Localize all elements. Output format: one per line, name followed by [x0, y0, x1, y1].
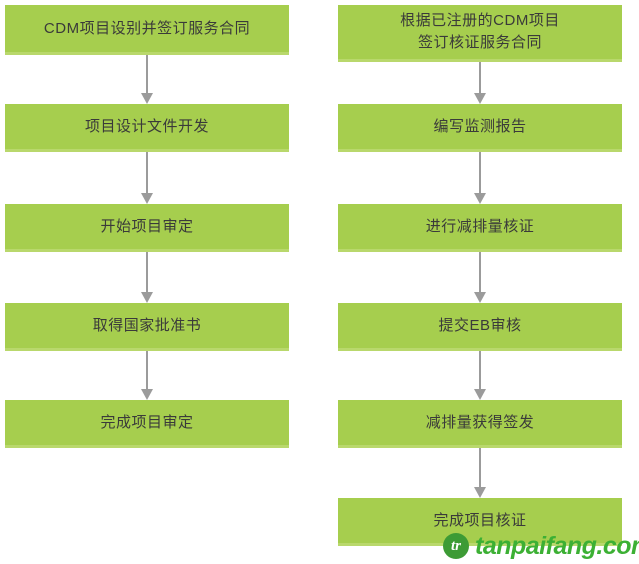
flow-node-l1[interactable]: CDM项目设别并签订服务合同	[5, 5, 289, 55]
arrow-shaft-icon	[146, 351, 148, 389]
watermark: tr tanpaifang.com	[443, 531, 639, 561]
watermark-text: tanpaifang.com	[475, 534, 639, 559]
flow-node-l5[interactable]: 完成项目审定	[5, 400, 289, 448]
arrow-head-icon	[141, 292, 153, 303]
arrow-head-icon	[474, 93, 486, 104]
arrow-shaft-icon	[479, 252, 481, 292]
flow-arrow-r4-r5	[474, 351, 486, 400]
flow-arrow-l3-l4	[141, 252, 153, 303]
flowchart-canvas: CDM项目设别并签订服务合同 项目设计文件开发 开始项目审定 取得国家批准书	[0, 0, 639, 564]
arrow-shaft-icon	[479, 448, 481, 487]
arrow-head-icon	[474, 487, 486, 498]
arrow-head-icon	[141, 193, 153, 204]
flow-node-r1-label: 根据已注册的CDM项目 签订核证服务合同	[400, 10, 560, 54]
flow-node-r1[interactable]: 根据已注册的CDM项目 签订核证服务合同	[338, 5, 622, 62]
arrow-head-icon	[474, 193, 486, 204]
flow-node-l4[interactable]: 取得国家批准书	[5, 303, 289, 351]
arrow-shaft-icon	[146, 152, 148, 193]
flow-node-r4[interactable]: 提交EB审核	[338, 303, 622, 351]
flow-node-l4-label: 取得国家批准书	[93, 315, 202, 337]
flow-node-l1-label: CDM项目设别并签订服务合同	[44, 18, 250, 40]
site-logo-icon: tr	[443, 533, 469, 559]
flow-arrow-l1-l2	[141, 55, 153, 104]
flow-column-right: 根据已注册的CDM项目 签订核证服务合同 编写监测报告 进行减排量核证 提交EB…	[338, 0, 622, 564]
flow-node-l3[interactable]: 开始项目审定	[5, 204, 289, 252]
flow-arrow-l4-l5	[141, 351, 153, 400]
flow-node-l2-label: 项目设计文件开发	[85, 116, 209, 138]
flow-node-r3[interactable]: 进行减排量核证	[338, 204, 622, 252]
flow-node-r3-label: 进行减排量核证	[426, 216, 535, 238]
arrow-shaft-icon	[479, 351, 481, 389]
flow-node-r2[interactable]: 编写监测报告	[338, 104, 622, 152]
flow-node-l2[interactable]: 项目设计文件开发	[5, 104, 289, 152]
flow-node-r5-label: 减排量获得签发	[426, 412, 535, 434]
arrow-head-icon	[141, 389, 153, 400]
arrow-shaft-icon	[479, 62, 481, 93]
flow-node-r5[interactable]: 减排量获得签发	[338, 400, 622, 448]
flow-node-l3-label: 开始项目审定	[100, 216, 193, 238]
flow-arrow-r1-r2	[474, 62, 486, 104]
arrow-head-icon	[474, 389, 486, 400]
flow-node-r6-label: 完成项目核证	[433, 510, 526, 532]
arrow-shaft-icon	[146, 55, 148, 93]
flow-arrow-l2-l3	[141, 152, 153, 204]
arrow-shaft-icon	[479, 152, 481, 193]
flow-arrow-r5-r6	[474, 448, 486, 498]
flow-column-left: CDM项目设别并签订服务合同 项目设计文件开发 开始项目审定 取得国家批准书	[5, 0, 289, 564]
flow-node-l5-label: 完成项目审定	[100, 412, 193, 434]
flow-node-r2-label: 编写监测报告	[433, 116, 526, 138]
arrow-shaft-icon	[146, 252, 148, 292]
flow-node-r4-label: 提交EB审核	[438, 315, 521, 337]
flow-arrow-r3-r4	[474, 252, 486, 303]
arrow-head-icon	[141, 93, 153, 104]
arrow-head-icon	[474, 292, 486, 303]
flow-arrow-r2-r3	[474, 152, 486, 204]
